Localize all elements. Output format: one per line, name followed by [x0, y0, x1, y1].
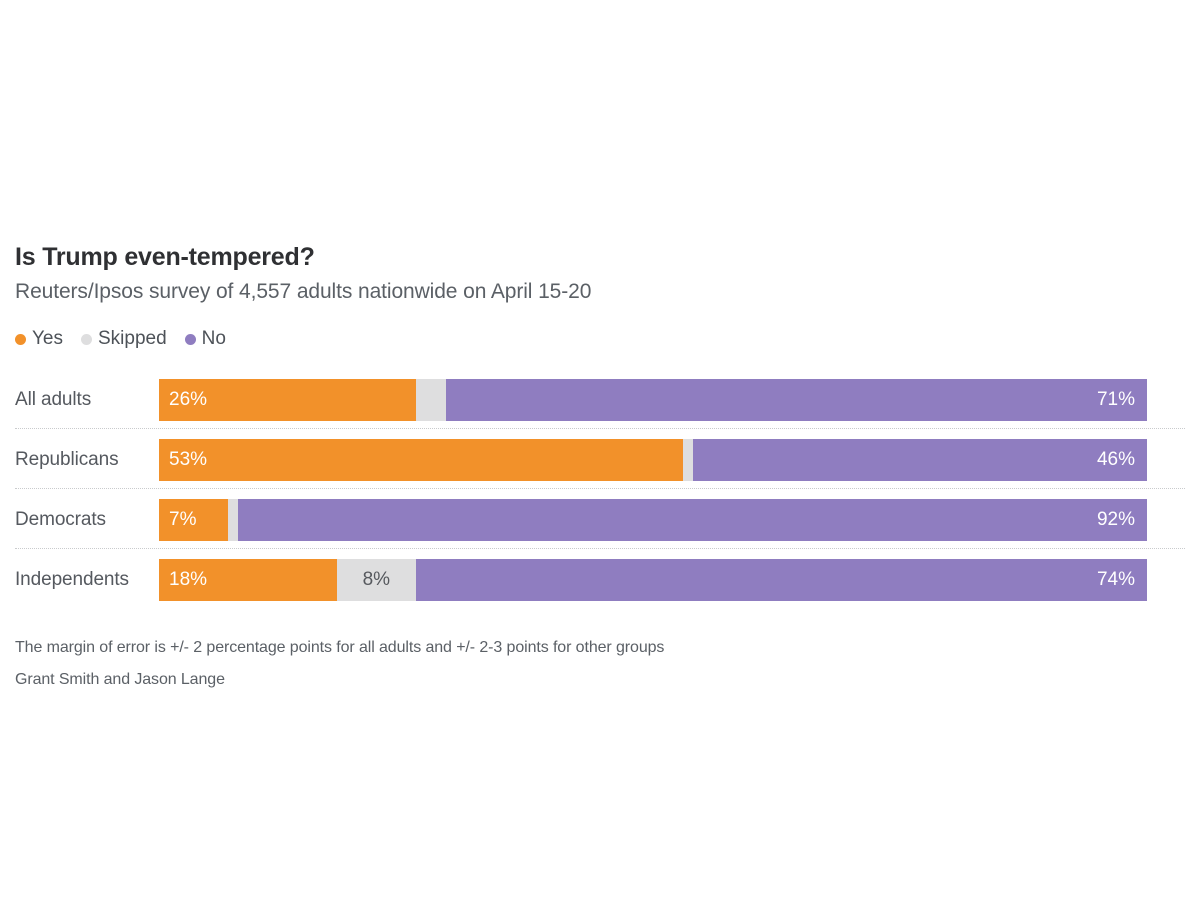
bar-segment-no[interactable]: 46%: [693, 439, 1147, 481]
chart-subtitle: Reuters/Ipsos survey of 4,557 adults nat…: [15, 278, 1200, 306]
table-row: Independents 18% 8% 74%: [0, 550, 1200, 610]
bar-segment-skipped[interactable]: [683, 439, 693, 481]
bar-segment-yes[interactable]: 26%: [159, 379, 416, 421]
bar-value-no: 74%: [1097, 559, 1147, 601]
legend-label-yes: Yes: [32, 328, 63, 350]
bar-segment-skipped[interactable]: 8%: [337, 559, 416, 601]
bar-segment-skipped[interactable]: [416, 379, 446, 421]
row-label-independents: Independents: [15, 550, 129, 610]
row-label-all-adults: All adults: [15, 370, 91, 430]
bar-segment-no[interactable]: 71%: [446, 379, 1147, 421]
stacked-bar-republicans: 53% 46%: [159, 439, 1147, 481]
bar-segment-yes[interactable]: 53%: [159, 439, 683, 481]
bar-segment-yes[interactable]: 7%: [159, 499, 228, 541]
legend-swatch-no-icon: [185, 334, 196, 345]
bar-value-yes: 7%: [159, 499, 196, 541]
legend-item-skipped[interactable]: Skipped: [81, 328, 167, 350]
bar-value-no: 71%: [1097, 379, 1147, 421]
bar-value-skipped: 8%: [363, 559, 390, 601]
chart-footnotes: The margin of error is +/- 2 percentage …: [15, 632, 1200, 696]
legend-swatch-skipped-icon: [81, 334, 92, 345]
chart-legend: Yes Skipped No: [15, 328, 1200, 350]
stacked-bar-all-adults: 26% 71%: [159, 379, 1147, 421]
legend-label-no: No: [202, 328, 226, 350]
bar-rows: All adults 26% 71% Republicans 53%: [0, 370, 1200, 610]
legend-swatch-yes-icon: [15, 334, 26, 345]
bar-segment-yes[interactable]: 18%: [159, 559, 337, 601]
bar-value-no: 92%: [1097, 499, 1147, 541]
legend-label-skipped: Skipped: [98, 328, 167, 350]
bar-value-yes: 26%: [159, 379, 207, 421]
stacked-bar-independents: 18% 8% 74%: [159, 559, 1147, 601]
row-label-republicans: Republicans: [15, 430, 118, 490]
footnote-byline: Grant Smith and Jason Lange: [15, 664, 1200, 696]
footnote-margin-of-error: The margin of error is +/- 2 percentage …: [15, 632, 1200, 664]
table-row: Republicans 53% 46%: [0, 430, 1200, 490]
chart-container: Is Trump even-tempered? Reuters/Ipsos su…: [0, 240, 1200, 696]
bar-value-no: 46%: [1097, 439, 1147, 481]
chart-title: Is Trump even-tempered?: [15, 240, 1200, 274]
bar-segment-skipped[interactable]: [228, 499, 238, 541]
bar-segment-no[interactable]: 74%: [416, 559, 1147, 601]
legend-item-no[interactable]: No: [185, 328, 226, 350]
bar-value-yes: 18%: [159, 559, 207, 601]
stacked-bar-democrats: 7% 92%: [159, 499, 1147, 541]
chart-page: Is Trump even-tempered? Reuters/Ipsos su…: [0, 0, 1200, 900]
row-label-democrats: Democrats: [15, 490, 106, 550]
bar-segment-no[interactable]: 92%: [238, 499, 1147, 541]
table-row: Democrats 7% 92%: [0, 490, 1200, 550]
bar-value-yes: 53%: [159, 439, 207, 481]
legend-item-yes[interactable]: Yes: [15, 328, 63, 350]
table-row: All adults 26% 71%: [0, 370, 1200, 430]
